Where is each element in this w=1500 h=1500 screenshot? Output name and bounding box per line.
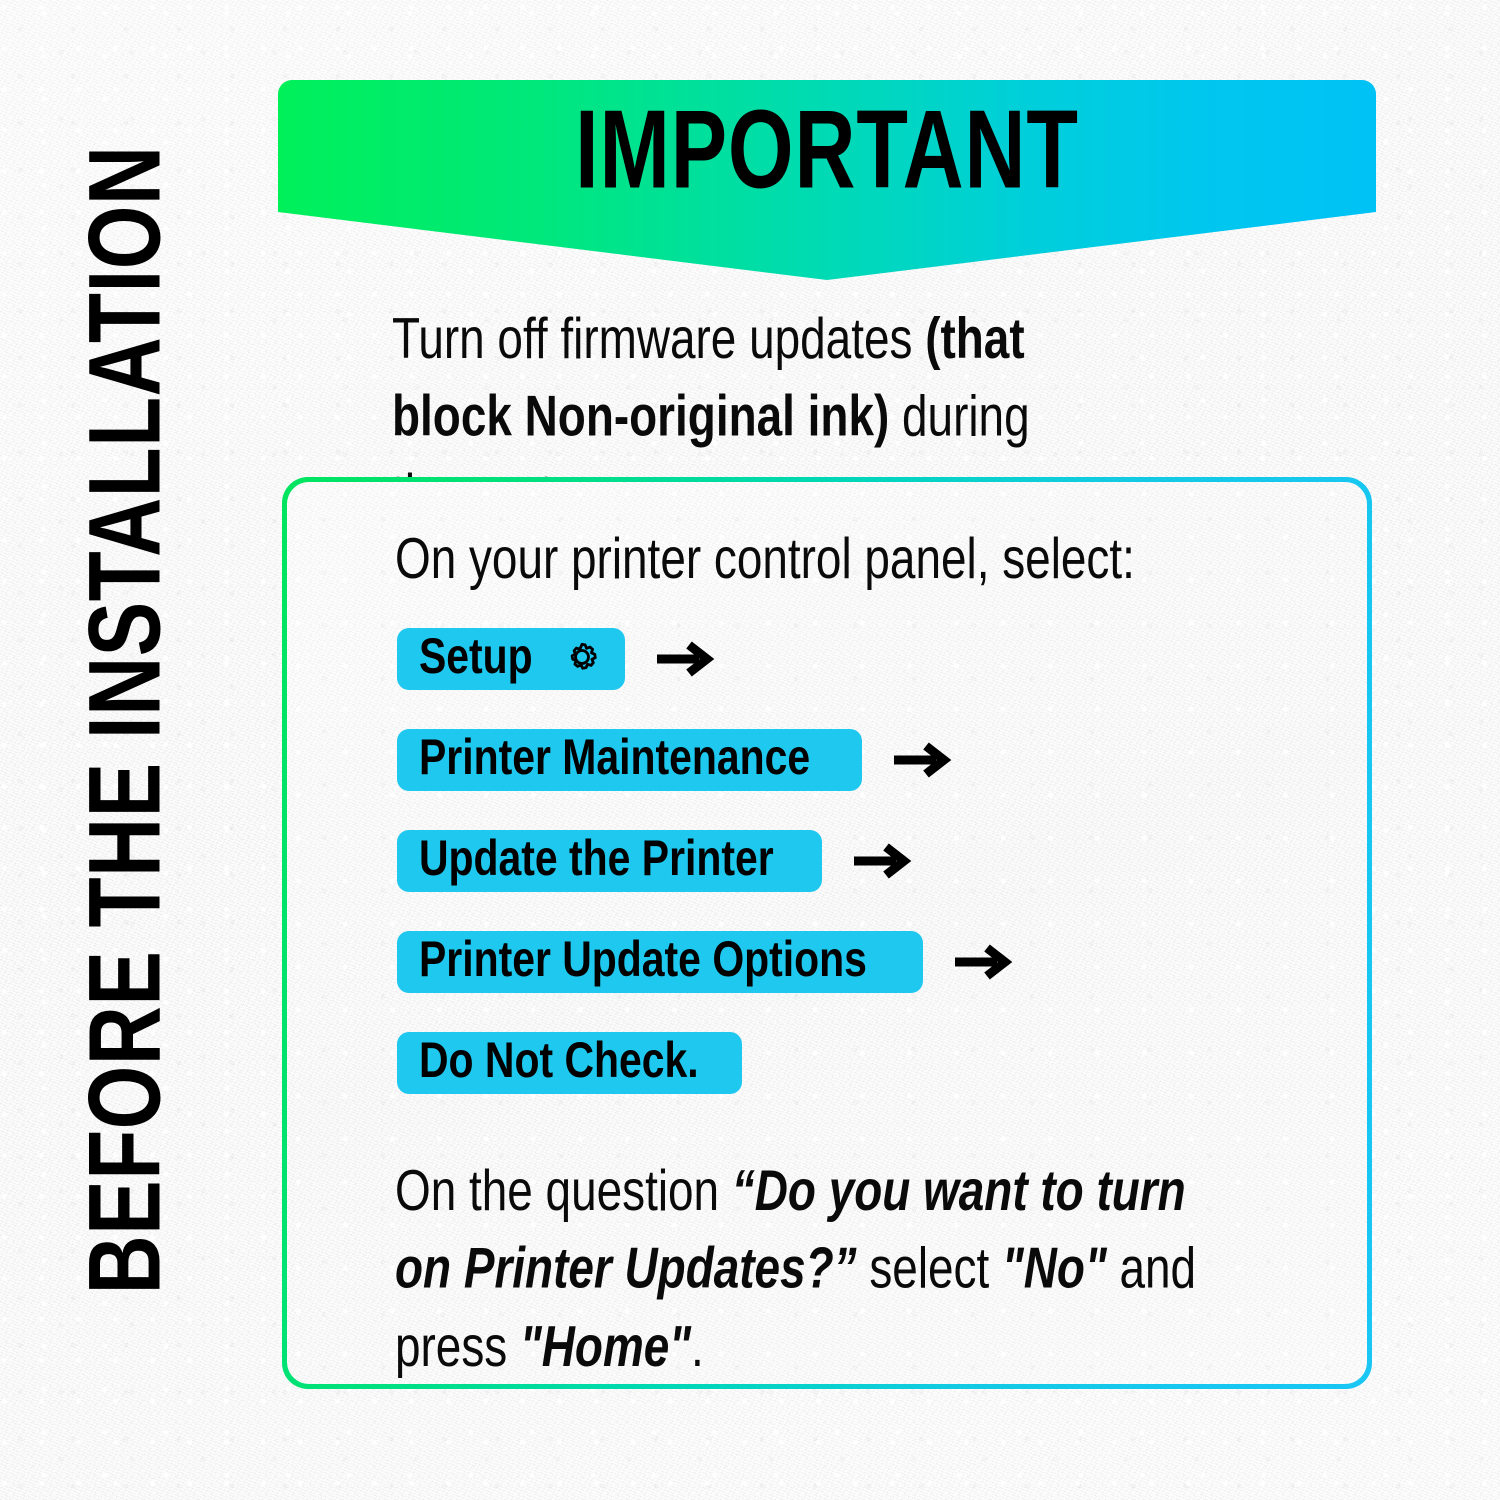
arrow-right-icon — [655, 637, 717, 681]
closing-quote-no: "No" — [1002, 1236, 1107, 1300]
instructions-box: On your printer control panel, select: S… — [282, 477, 1372, 1389]
closing-part4: . — [691, 1314, 704, 1378]
arrow-right-icon — [852, 839, 914, 883]
step-pill-do-not-check[interactable]: Do Not Check. — [397, 1032, 742, 1094]
step-pill-update-the-printer[interactable]: Update the Printer — [397, 830, 822, 892]
step-pill-label: Printer Maintenance — [419, 733, 810, 783]
side-vertical-title-text: BEFORE THE INSTALLATION — [74, 146, 176, 1295]
step-pill-label: Update the Printer — [419, 834, 774, 884]
arrow-right-icon — [953, 940, 1015, 984]
instructions-box-inner: On your printer control panel, select: S… — [287, 482, 1367, 1384]
box-heading: On your printer control panel, select: — [395, 524, 1135, 593]
closing-quote-home: "Home" — [520, 1314, 691, 1378]
closing-paragraph: On the question “Do you want to turn on … — [395, 1152, 1223, 1384]
closing-part2: select — [857, 1236, 1002, 1300]
step-pill-label: Do Not Check. — [419, 1036, 699, 1086]
closing-part1: On the question — [395, 1159, 732, 1223]
banner-title: IMPORTANT — [344, 90, 1310, 210]
step-row: Update the Printer — [397, 824, 1327, 897]
step-pill-setup[interactable]: Setup — [397, 628, 625, 690]
step-pill-label: Printer Update Options — [419, 935, 867, 985]
poster-page: BEFORE THE INSTALLATION IMPORTANT Turn o… — [0, 0, 1500, 1500]
step-pill-printer-update-options[interactable]: Printer Update Options — [397, 931, 923, 993]
gear-icon — [561, 636, 603, 678]
arrow-right-icon — [892, 738, 954, 782]
step-pill-printer-maintenance[interactable]: Printer Maintenance — [397, 729, 862, 791]
important-banner: IMPORTANT — [278, 80, 1376, 280]
step-pill-label: Setup — [419, 632, 533, 682]
step-row: Do Not Check. — [397, 1026, 1327, 1099]
side-vertical-title: BEFORE THE INSTALLATION — [0, 0, 250, 1440]
step-row: Setup — [397, 622, 1327, 695]
steps-list: Setup — [397, 622, 1327, 1127]
step-row: Printer Maintenance — [397, 723, 1327, 796]
intro-text-part1: Turn off firmware updates — [392, 307, 925, 371]
step-row: Printer Update Options — [397, 925, 1327, 998]
